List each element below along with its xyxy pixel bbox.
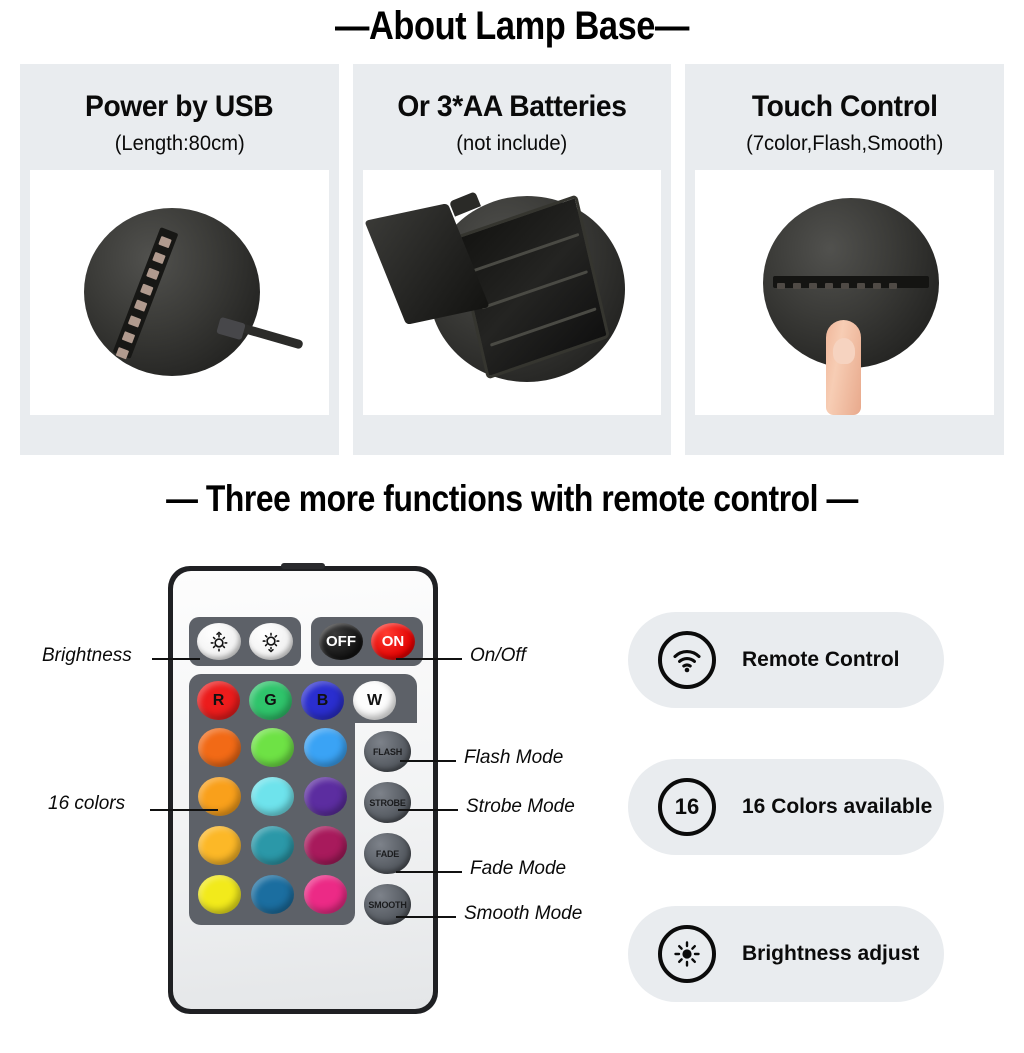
feature-card-list: Remote Control 16 16 Colors available Br…: [628, 612, 944, 1053]
color-button-purple[interactable]: [304, 777, 347, 816]
color-button-sky-blue[interactable]: [304, 728, 347, 767]
panel-subtitle: (Length:80cm): [114, 132, 244, 156]
brightness-up-button[interactable]: [197, 623, 241, 660]
color-button-steel-blue[interactable]: [251, 875, 294, 914]
brightness-down-button[interactable]: [249, 623, 293, 660]
color-button-orange[interactable]: [198, 728, 241, 767]
feature-card-label: 16 Colors available: [742, 795, 932, 819]
panel-subtitle: (7color,Flash,Smooth): [746, 132, 943, 156]
number-badge-label: 16: [675, 794, 699, 820]
remote-top-row: OFF ON: [189, 617, 417, 666]
color-grid-and-modes: FLASH STROBE FADE SMOOTH: [189, 731, 417, 925]
color-button-magenta[interactable]: [304, 826, 347, 865]
brightness-sun-icon: [658, 925, 716, 983]
brightness-down-icon: [260, 631, 282, 653]
color-button-cyan[interactable]: [251, 777, 294, 816]
callout-line-smooth: [396, 916, 456, 918]
wifi-signal-icon: [658, 631, 716, 689]
feature-card-label: Brightness adjust: [742, 942, 919, 966]
callout-16-colors: 16 colors: [48, 793, 125, 815]
feature-card-16-colors[interactable]: 16 16 Colors available: [628, 759, 944, 855]
panel-aa-batteries: Or 3*AA Batteries (not include): [353, 64, 672, 455]
panel-subtitle: (not include): [457, 132, 568, 156]
color-button-r[interactable]: R: [197, 681, 240, 720]
callout-brightness: Brightness: [42, 645, 132, 667]
lamp-base-battery-photo: [363, 170, 662, 415]
color-button-lime[interactable]: [251, 728, 294, 767]
remote-control[interactable]: OFF ON R G B W: [168, 566, 438, 1014]
page-title-lamp-base: —About Lamp Base—: [72, 4, 953, 49]
color-button-gold[interactable]: [198, 826, 241, 865]
smooth-mode-button[interactable]: SMOOTH: [364, 884, 411, 925]
ir-emitter-icon: [281, 563, 325, 569]
callout-line-16-colors: [150, 809, 218, 811]
lamp-base-usb-photo: [30, 170, 329, 415]
lamp-base-panel-row: Power by USB (Length:80cm) Or 3*AA Batte…: [20, 64, 1004, 455]
fade-mode-button[interactable]: FADE: [364, 833, 411, 874]
panel-touch-control: Touch Control (7color,Flash,Smooth): [685, 64, 1004, 455]
brightness-pad: [189, 617, 301, 666]
feature-card-remote-control[interactable]: Remote Control: [628, 612, 944, 708]
callout-line-strobe: [398, 809, 458, 811]
feature-card-brightness-adjust[interactable]: Brightness adjust: [628, 906, 944, 1002]
callout-flash-mode: Flash Mode: [464, 747, 563, 769]
callout-on-off: On/Off: [470, 645, 526, 667]
color-button-g[interactable]: G: [249, 681, 292, 720]
color-button-yellow[interactable]: [198, 875, 241, 914]
callout-fade-mode: Fade Mode: [470, 858, 566, 880]
feature-card-label: Remote Control: [742, 648, 900, 672]
callout-line-fade: [396, 871, 462, 873]
color-button-teal[interactable]: [251, 826, 294, 865]
flash-mode-button[interactable]: FLASH: [364, 731, 411, 772]
fingernail: [833, 338, 855, 364]
callout-line-flash: [400, 760, 456, 762]
color-button-b[interactable]: B: [301, 681, 344, 720]
color-grid: [189, 723, 355, 925]
panel-title: Power by USB: [85, 90, 273, 124]
panel-title: Touch Control: [752, 90, 938, 124]
rgbw-row: R G B W: [189, 674, 417, 723]
power-off-button[interactable]: OFF: [319, 623, 363, 660]
power-on-button[interactable]: ON: [371, 623, 415, 660]
lamp-base-touch-photo: [695, 170, 994, 415]
brightness-up-icon: [208, 631, 230, 653]
callout-line-on-off: [396, 658, 462, 660]
panel-title: Or 3*AA Batteries: [397, 90, 626, 124]
color-button-pink[interactable]: [304, 875, 347, 914]
number-badge-icon: 16: [658, 778, 716, 836]
callout-line-brightness: [152, 658, 200, 660]
color-button-w[interactable]: W: [353, 681, 396, 720]
callout-strobe-mode: Strobe Mode: [466, 796, 575, 818]
finger-icon: [826, 320, 861, 415]
page-title-remote-functions: — Three more functions with remote contr…: [72, 478, 953, 520]
callout-smooth-mode: Smooth Mode: [464, 903, 582, 925]
panel-power-by-usb: Power by USB (Length:80cm): [20, 64, 339, 455]
strobe-mode-button[interactable]: STROBE: [364, 782, 411, 823]
touch-sensor-bar: [773, 276, 929, 288]
